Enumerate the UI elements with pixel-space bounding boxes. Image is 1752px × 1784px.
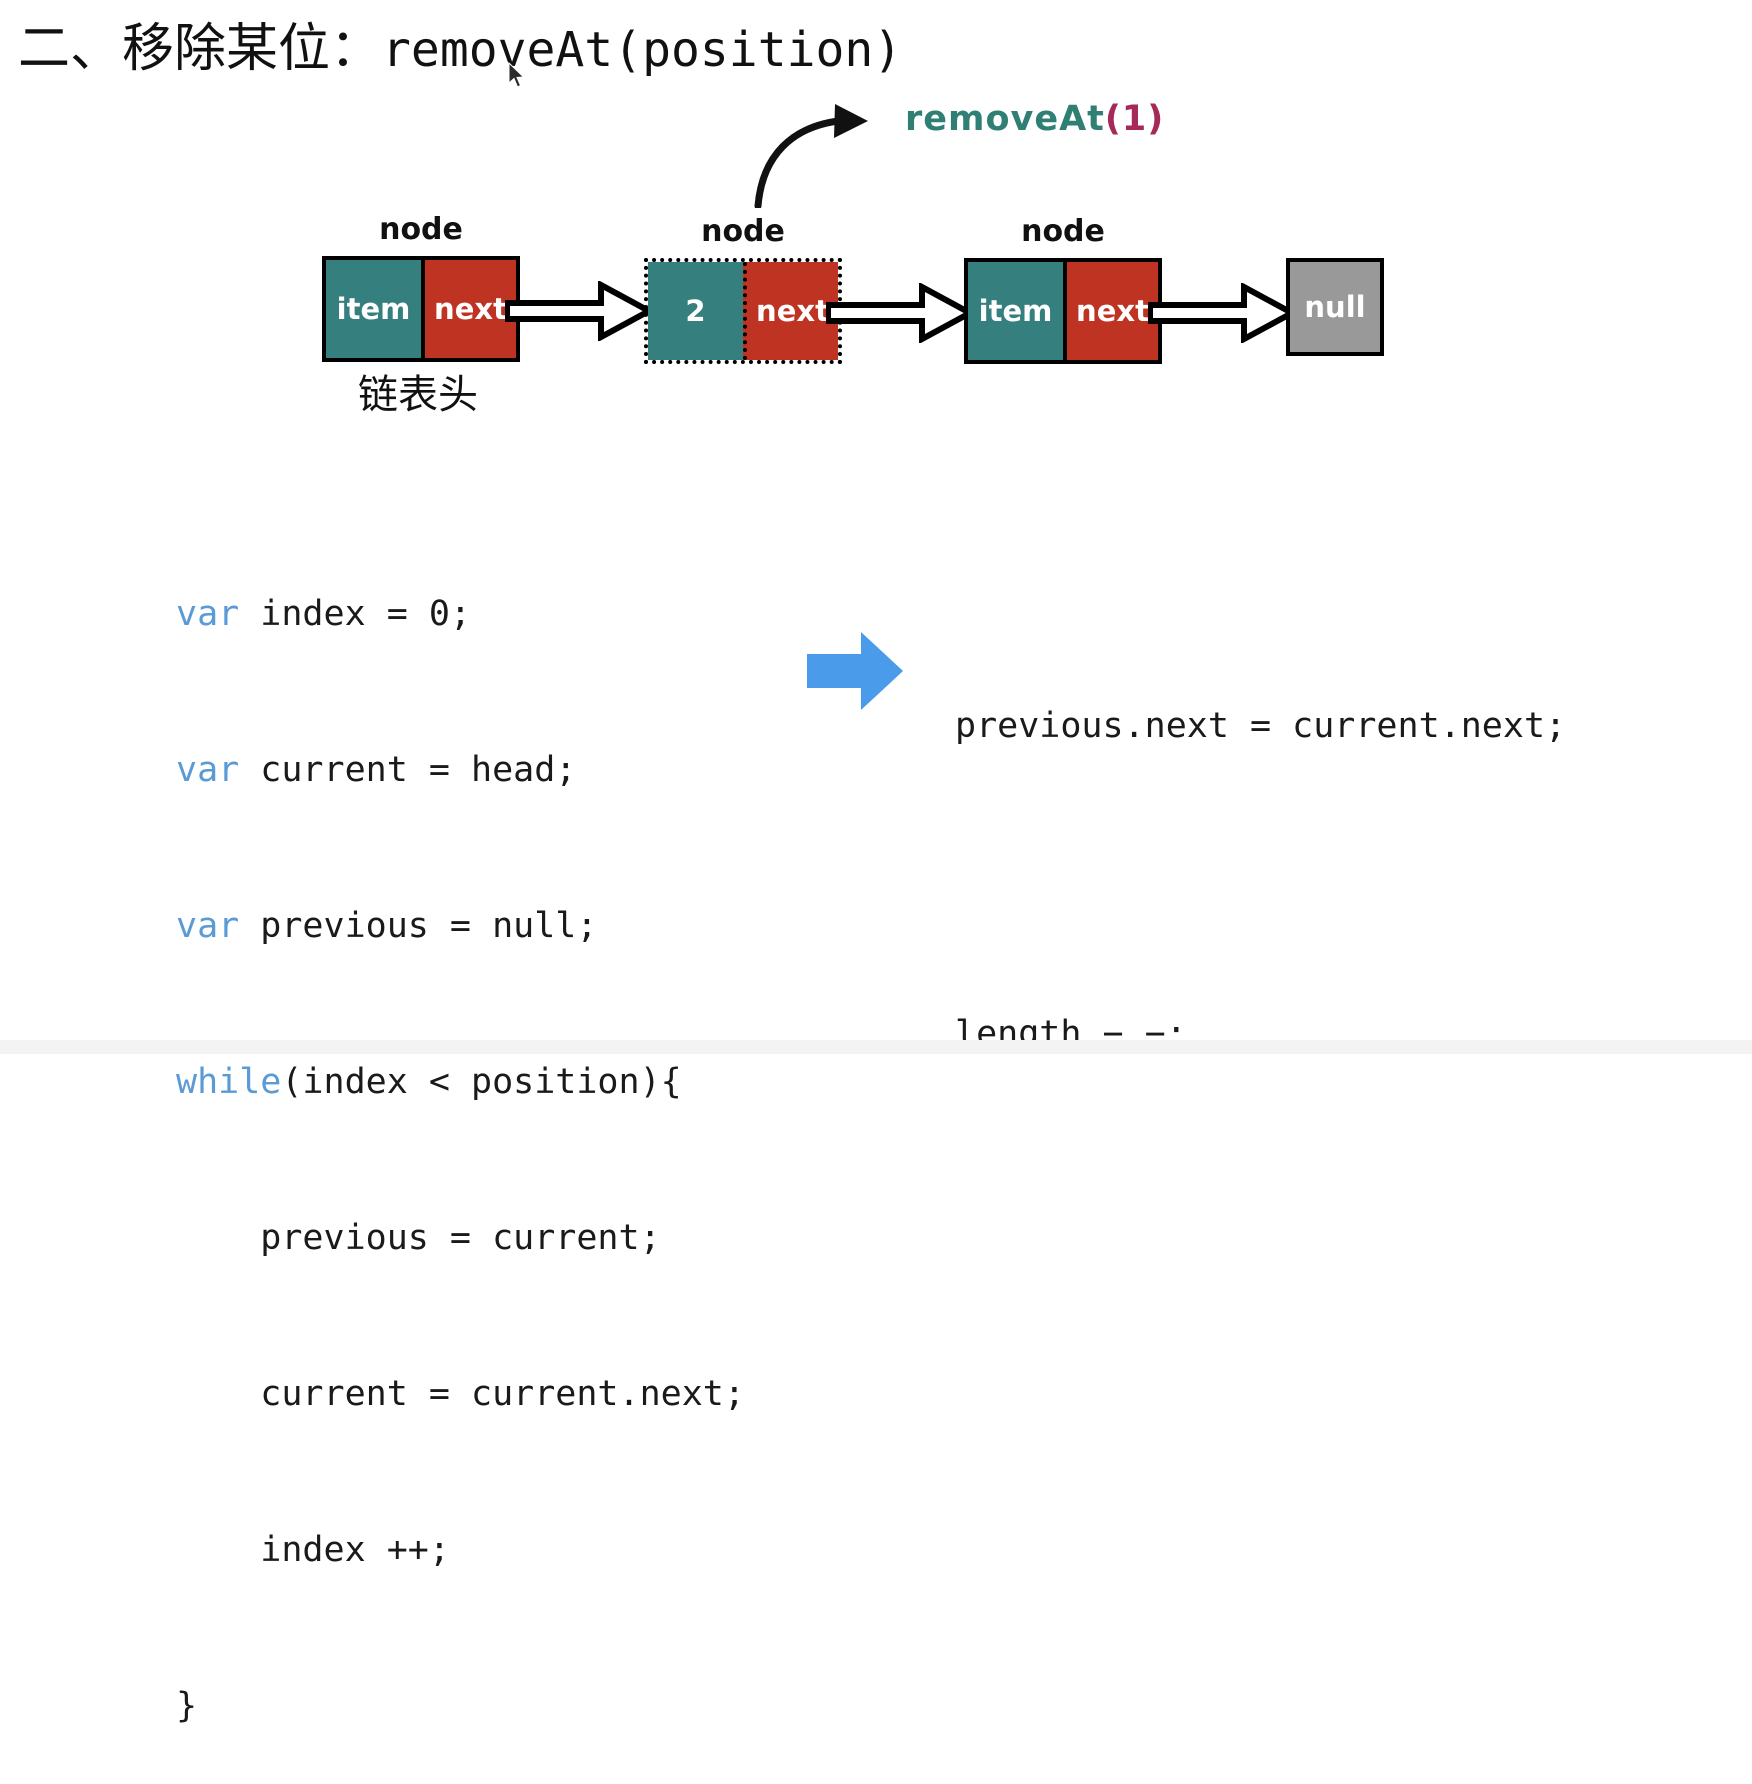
code-text: (index < position){ — [281, 1062, 681, 1102]
code-keyword: var — [176, 906, 239, 946]
code-text: current = head; — [239, 750, 576, 790]
node-caption-3: node — [964, 214, 1162, 249]
bottom-strip — [0, 1040, 1752, 1054]
linked-list-diagram: node item next node 2 next node item nex… — [0, 0, 1752, 440]
code-line-result-1: previous.next = current.next; — [955, 700, 1566, 752]
node-next-cell-3: next — [1063, 262, 1158, 360]
node-caption-1: node — [322, 212, 520, 247]
code-text: previous = current; — [176, 1218, 661, 1258]
code-text: } — [176, 1686, 197, 1726]
node-next-cell-1: next — [421, 260, 516, 358]
block-arrow-2-icon — [826, 283, 974, 343]
code-line: current = current.next; — [176, 1368, 745, 1420]
null-terminator-box: null — [1286, 258, 1384, 356]
code-text: index ++; — [176, 1530, 450, 1570]
code-keyword: var — [176, 594, 239, 634]
list-node-1: node item next — [322, 256, 520, 362]
block-arrow-1-icon — [505, 281, 653, 341]
node-box-2: 2 next — [644, 258, 842, 364]
node-next-cell-2: next — [743, 262, 838, 360]
blue-arrow-icon — [805, 630, 905, 712]
node-item-cell-1: item — [326, 260, 421, 358]
code-line: var previous = null; — [176, 900, 745, 952]
code-keyword: while — [176, 1062, 281, 1102]
list-node-3: node item next — [964, 258, 1162, 364]
code-line: previous = current; — [176, 1212, 745, 1264]
list-head-label: 链表头 — [322, 362, 514, 420]
code-text: index = 0; — [239, 594, 471, 634]
null-label: null — [1304, 290, 1365, 324]
code-line: index ++; — [176, 1524, 745, 1576]
node-item-cell-3: item — [968, 262, 1063, 360]
code-text: previous = null; — [239, 906, 597, 946]
node-item-cell-2: 2 — [648, 262, 743, 360]
code-block-left: var index = 0; var current = head; var p… — [176, 484, 745, 1784]
node-box-1: item next — [322, 256, 520, 362]
code-block-right: previous.next = current.next; length − −… — [955, 596, 1566, 1112]
code-spacer — [955, 856, 1566, 904]
code-keyword: var — [176, 750, 239, 790]
list-node-2: node 2 next — [644, 258, 842, 364]
code-line: } — [176, 1680, 745, 1732]
code-line: var index = 0; — [176, 588, 745, 640]
code-line: while(index < position){ — [176, 1056, 745, 1108]
block-arrow-3-icon — [1148, 283, 1296, 343]
code-line: var current = head; — [176, 744, 745, 796]
node-box-3: item next — [964, 258, 1162, 364]
node-caption-2: node — [644, 214, 842, 249]
code-text: current = current.next; — [176, 1374, 745, 1414]
